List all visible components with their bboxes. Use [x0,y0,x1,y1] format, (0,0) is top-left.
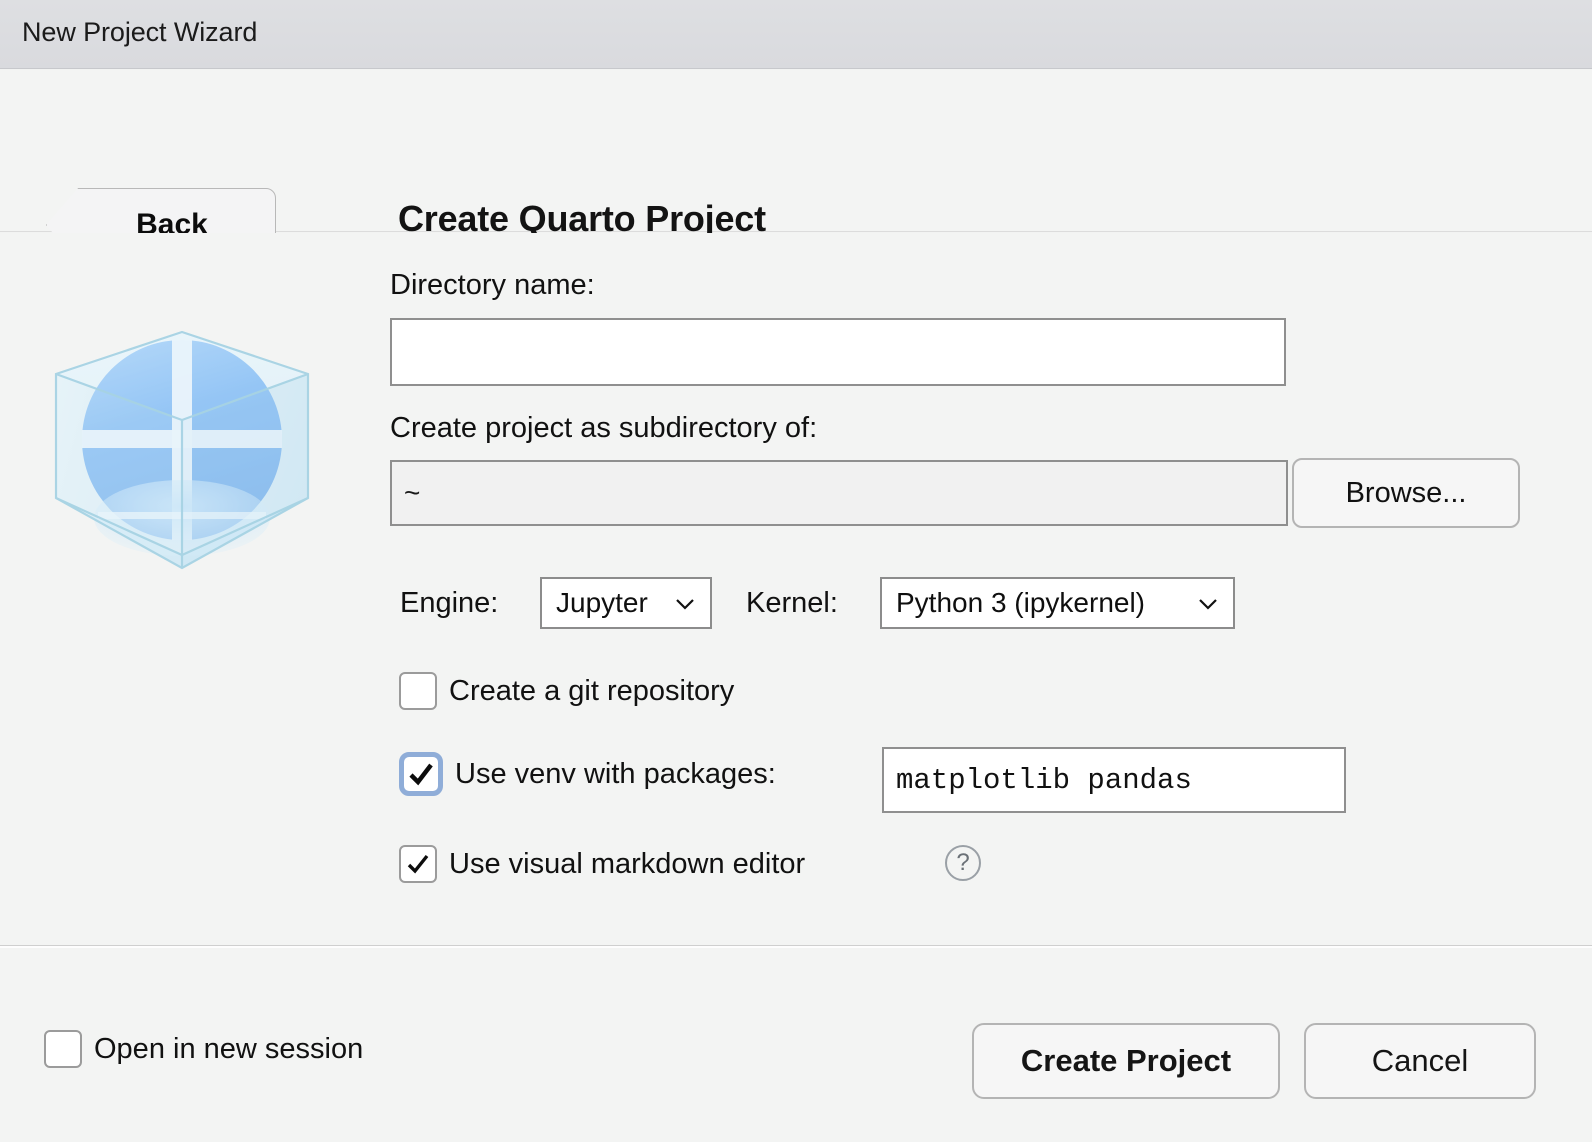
help-circle-icon[interactable]: ? [945,845,981,881]
subdirectory-label: Create project as subdirectory of: [390,412,817,445]
chevron-down-icon [1195,590,1221,616]
venv-label: Use venv with packages: [455,758,776,791]
kernel-select-value: Python 3 (ipykernel) [896,587,1187,619]
wizard-header: Back Create Quarto Project [0,70,1592,232]
venv-packages-input[interactable] [882,747,1346,813]
new-project-wizard-dialog: New Project Wizard Back Create Quarto Pr… [0,0,1592,1142]
visual-markdown-editor-checkbox[interactable] [399,845,437,883]
kernel-select[interactable]: Python 3 (ipykernel) [880,577,1235,629]
chevron-down-icon [672,590,698,616]
subdirectory-path-field[interactable] [390,460,1288,526]
engine-label: Engine: [400,587,498,620]
engine-select[interactable]: Jupyter [540,577,712,629]
open-in-new-session-label: Open in new session [94,1033,363,1066]
window-title: New Project Wizard [22,17,257,48]
footer-divider [0,946,1592,948]
browse-button[interactable]: Browse... [1292,458,1520,528]
venv-checkbox-row[interactable]: Use venv with packages: [399,752,776,796]
cancel-button[interactable]: Cancel [1304,1023,1536,1099]
directory-name-label: Directory name: [390,269,595,302]
kernel-label: Kernel: [746,587,838,620]
create-project-button[interactable]: Create Project [972,1023,1280,1099]
git-repository-label: Create a git repository [449,675,734,708]
visual-markdown-editor-label: Use visual markdown editor [449,848,805,881]
visual-markdown-editor-checkbox-row[interactable]: Use visual markdown editor [399,845,805,883]
window-titlebar: New Project Wizard [0,0,1592,69]
checkmark-icon [401,847,435,881]
open-in-new-session-row[interactable]: Open in new session [44,1030,363,1068]
engine-select-value: Jupyter [556,587,664,619]
open-in-new-session-checkbox[interactable] [44,1030,82,1068]
directory-name-input[interactable] [390,318,1286,386]
quarto-project-cube-icon [42,312,322,580]
venv-checkbox[interactable] [399,752,443,796]
git-repository-checkbox-row[interactable]: Create a git repository [399,672,734,710]
checkmark-icon [404,757,438,791]
git-repository-checkbox[interactable] [399,672,437,710]
